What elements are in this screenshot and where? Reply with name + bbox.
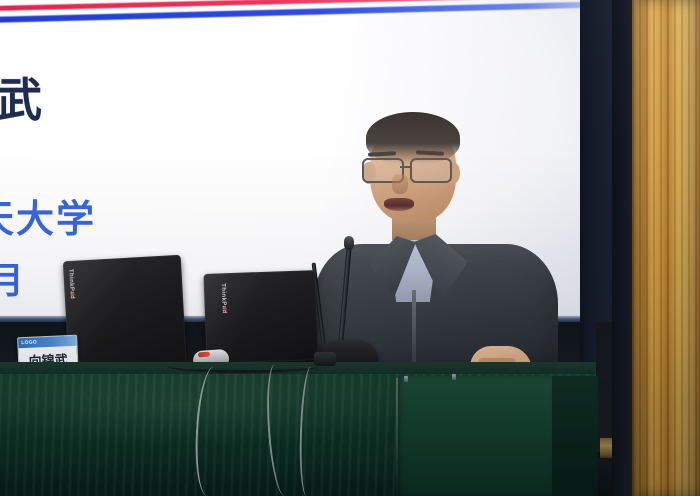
skirt-clip [452, 374, 456, 380]
slide-speaker-name: 锦武 [0, 64, 44, 130]
skirt-clip [404, 376, 408, 382]
slide-date: 1月 [0, 252, 26, 304]
cable-connector [314, 352, 336, 366]
microphone-capsule-icon [344, 236, 354, 250]
presentation-photo: 锦武 航天大学 1月 [0, 0, 700, 496]
thinkpad-logo-icon: ThinkPad [67, 269, 75, 299]
speaker-nose [392, 174, 408, 194]
mouse-accent-stripe [198, 352, 210, 358]
placard-logo-icon: LOGO [21, 339, 37, 346]
table-skirt-shadow [552, 376, 598, 496]
eyeglasses-icon [360, 158, 464, 180]
cable-across-table [168, 360, 318, 373]
slide-affiliation: 航天大学 [0, 188, 96, 243]
thinkpad-red-dot-icon [224, 307, 227, 310]
speaker-hair [366, 112, 460, 164]
thinkpad-red-dot-icon [72, 293, 75, 296]
speaker-mouth [384, 198, 414, 211]
glasses-bridge [400, 166, 412, 168]
glasses-lens-right [410, 158, 452, 183]
stage-curtain [632, 0, 700, 496]
table-skirt-fold [396, 378, 398, 496]
thinkpad-logo-icon: ThinkPad [220, 283, 227, 313]
table-skirt-panel [398, 376, 554, 496]
curtain-shadow-gap [612, 0, 634, 496]
